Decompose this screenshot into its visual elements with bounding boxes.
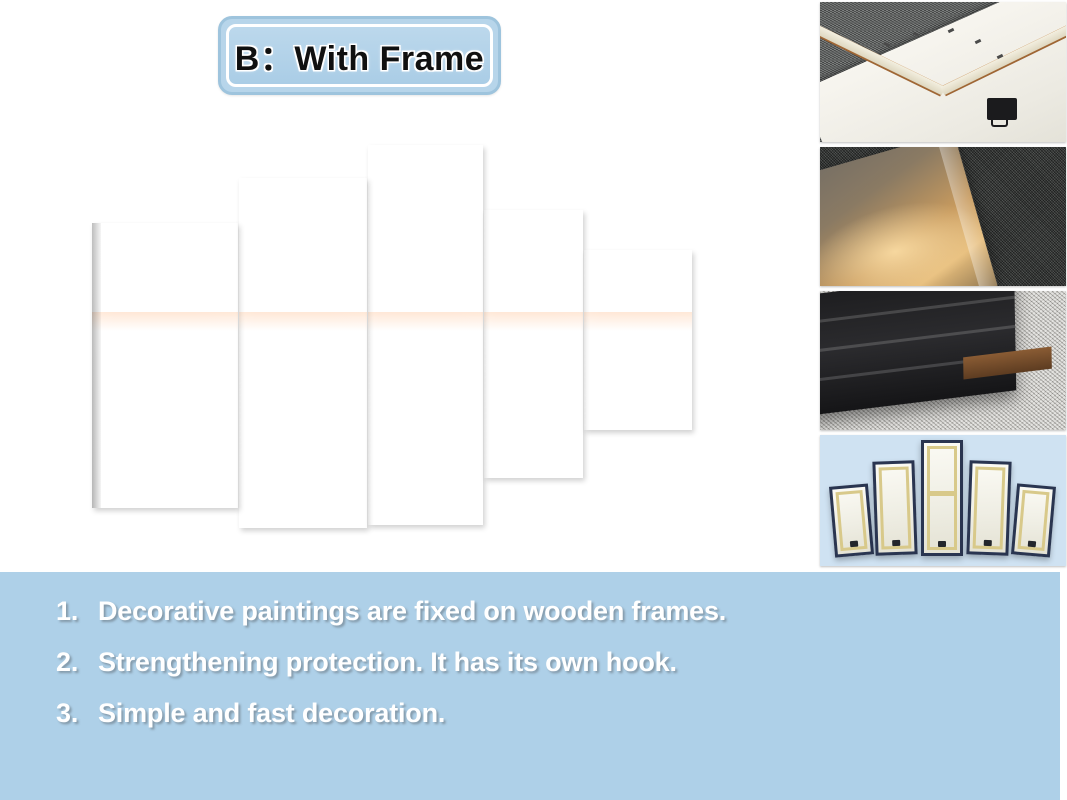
canvas-panel-4: [484, 210, 583, 478]
feature-text: Simple and fast decoration.: [98, 698, 445, 729]
thumbnail-4-image: [820, 435, 1066, 566]
panel-2-image: [239, 178, 367, 525]
panel-5-image: [584, 250, 692, 430]
hanging-hook-icon: [850, 540, 858, 547]
feature-list: 1. Decorative paintings are fixed on woo…: [56, 596, 1040, 749]
thumbnail-stacked-panels[interactable]: [820, 291, 1066, 430]
frame-seam: [820, 296, 1015, 325]
canvas-panel-2: [239, 178, 367, 528]
panel-1-image: [92, 223, 238, 508]
feature-text: Decorative paintings are fixed on wooden…: [98, 596, 726, 627]
frame-crossbar: [930, 491, 954, 496]
panel-back-4: [966, 461, 1011, 557]
panel-3-image: [368, 145, 483, 525]
canvas-panel-5: [584, 250, 692, 430]
feature-text: Strengthening protection. It has its own…: [98, 647, 677, 678]
thumbnail-3-image: [820, 291, 1066, 430]
title-badge-inner: B：With Frame: [226, 24, 493, 87]
panel-back-5: [1011, 483, 1056, 557]
feature-number: 1.: [56, 596, 98, 627]
canvas-artwork-preview: [92, 145, 692, 525]
hanging-hook-icon: [1028, 540, 1036, 547]
thumbnail-canvas-back-corner[interactable]: [820, 2, 1066, 142]
section-title-badge: B：With Frame: [218, 16, 501, 95]
feature-item: 3. Simple and fast decoration.: [56, 698, 1040, 729]
thumbnail-panel-backs[interactable]: [820, 435, 1066, 566]
page-title: B：With Frame: [235, 31, 484, 80]
hanging-hook-icon: [938, 541, 946, 547]
panel-back-1: [829, 483, 874, 557]
canvas-panel-1: [92, 223, 238, 508]
feature-number: 3.: [56, 698, 98, 729]
canvas-panel-3: [368, 145, 483, 525]
feature-item: 1. Decorative paintings are fixed on woo…: [56, 596, 1040, 627]
product-detail-page: B：With Frame: [0, 0, 1067, 800]
frame-seam: [820, 324, 1016, 353]
panel-4-image: [484, 210, 583, 478]
panel-back-2: [872, 461, 917, 557]
thumbnail-canvas-front-edge[interactable]: [820, 147, 1066, 286]
panel-back-3: [921, 440, 963, 555]
feature-item: 2. Strengthening protection. It has its …: [56, 647, 1040, 678]
hanging-hook-icon: [987, 98, 1017, 120]
feature-number: 2.: [56, 647, 98, 678]
thumbnail-2-image: [820, 147, 1066, 286]
feature-panel: 1. Decorative paintings are fixed on woo…: [0, 572, 1060, 800]
thumbnail-1-image: [820, 2, 1066, 142]
hanging-hook-icon: [892, 540, 900, 546]
hanging-hook-icon: [983, 540, 991, 546]
